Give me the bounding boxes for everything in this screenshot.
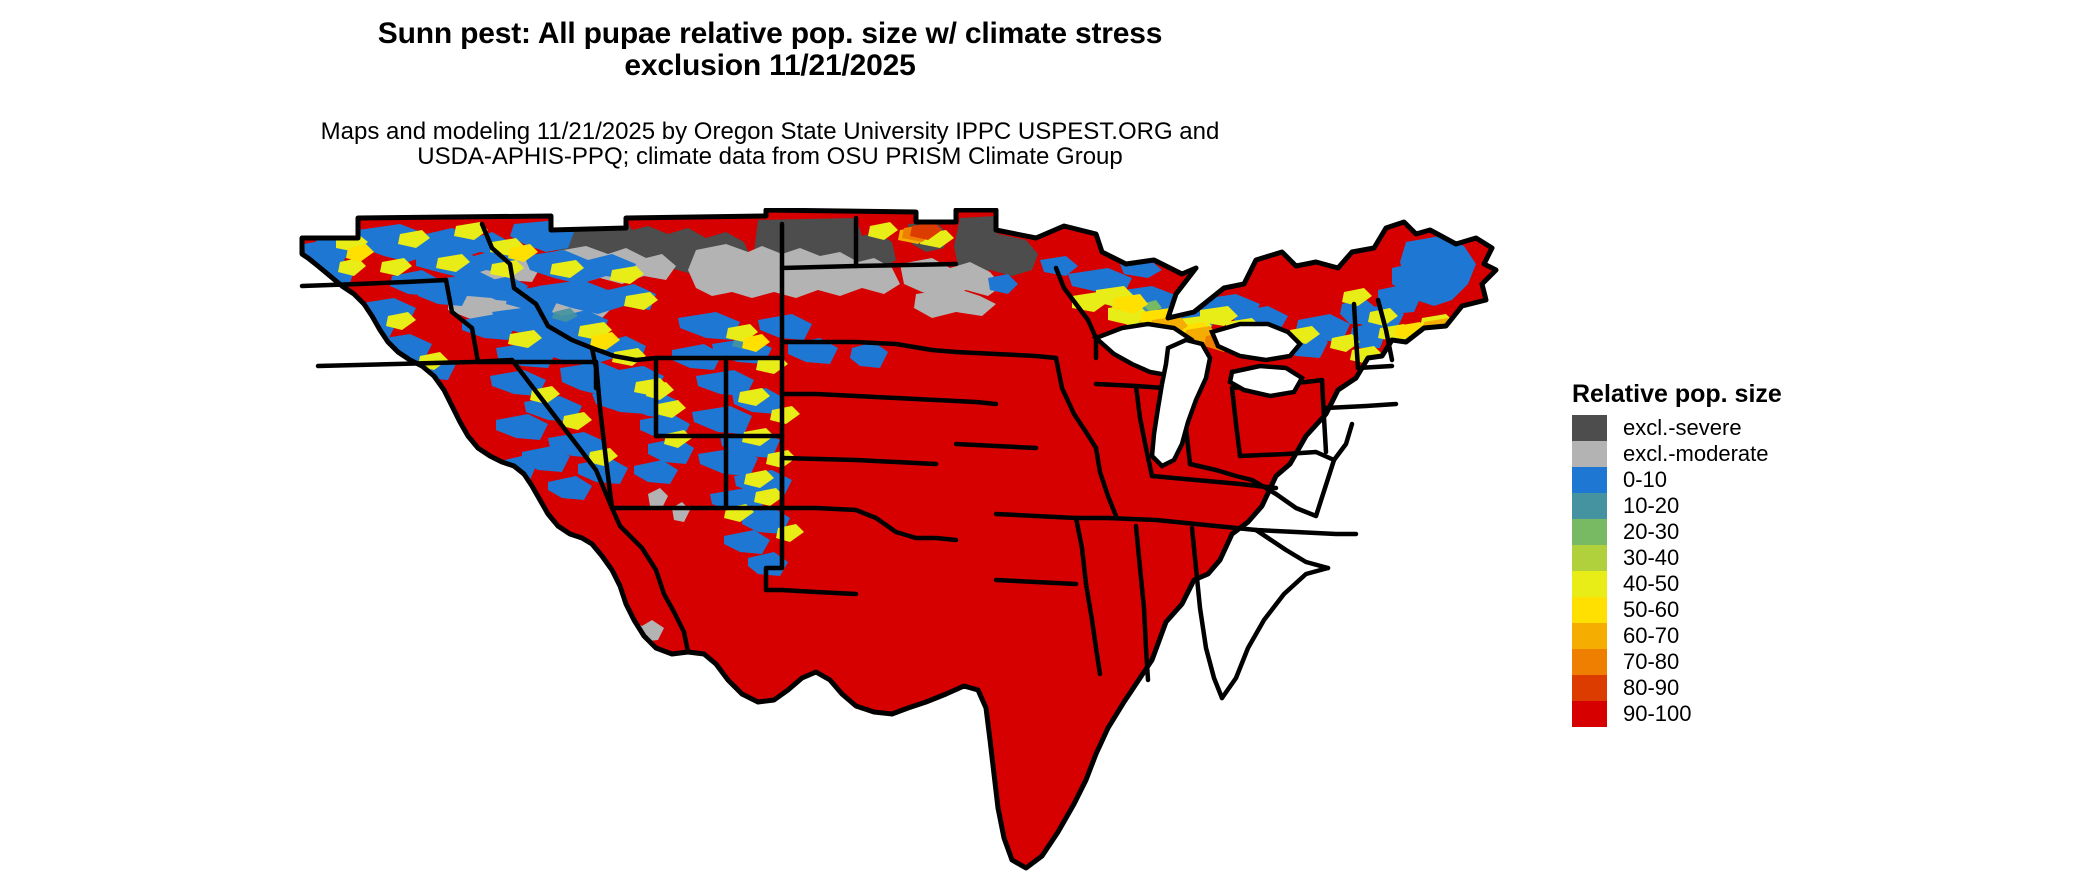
legend-label: 30-40 [1623, 547, 1679, 569]
legend-label: 50-60 [1623, 599, 1679, 621]
legend-item[interactable]: excl.-moderate [1572, 441, 2002, 467]
legend-items-list: excl.-severeexcl.-moderate0-1010-2020-30… [1572, 415, 2002, 727]
map-svg[interactable] [296, 208, 1556, 880]
legend-label: 40-50 [1623, 573, 1679, 595]
legend-swatch [1572, 571, 1607, 597]
legend-label: excl.-severe [1623, 417, 1742, 439]
map-legend: Relative pop. size excl.-severeexcl.-mod… [1572, 382, 2002, 727]
legend-label: 20-30 [1623, 521, 1679, 543]
legend-swatch [1572, 519, 1607, 545]
figure-title-block: Sunn pest: All pupae relative pop. size … [0, 18, 1540, 81]
legend-swatch [1572, 649, 1607, 675]
legend-swatch [1572, 415, 1607, 441]
legend-item[interactable]: 10-20 [1572, 493, 2002, 519]
legend-item[interactable]: 60-70 [1572, 623, 2002, 649]
figure-subtitle-block: Maps and modeling 11/21/2025 by Oregon S… [0, 119, 1540, 169]
legend-label: 60-70 [1623, 625, 1679, 647]
legend-swatch [1572, 493, 1607, 519]
legend-item[interactable]: excl.-severe [1572, 415, 2002, 441]
legend-item[interactable]: 0-10 [1572, 467, 2002, 493]
subtitle-line-2: USDA-APHIS-PPQ; climate data from OSU PR… [0, 144, 1540, 169]
legend-swatch [1572, 441, 1607, 467]
legend-swatch [1572, 545, 1607, 571]
title-line-2: exclusion 11/21/2025 [0, 50, 1540, 82]
page-subtitle: Maps and modeling 11/21/2025 by Oregon S… [0, 119, 1540, 169]
legend-item[interactable]: 70-80 [1572, 649, 2002, 675]
legend-swatch [1572, 675, 1607, 701]
legend-item[interactable]: 80-90 [1572, 675, 2002, 701]
map-figure-page: Sunn pest: All pupae relative pop. size … [0, 0, 2100, 892]
legend-swatch [1572, 623, 1607, 649]
legend-item[interactable]: 30-40 [1572, 545, 2002, 571]
legend-item[interactable]: 20-30 [1572, 519, 2002, 545]
legend-label: 10-20 [1623, 495, 1679, 517]
subtitle-line-1: Maps and modeling 11/21/2025 by Oregon S… [321, 118, 1220, 145]
legend-item[interactable]: 90-100 [1572, 701, 2002, 727]
page-title: Sunn pest: All pupae relative pop. size … [0, 18, 1540, 81]
legend-label: 0-10 [1623, 469, 1667, 491]
legend-label: 70-80 [1623, 651, 1679, 673]
legend-title: Relative pop. size [1572, 382, 2002, 407]
us-choropleth-map[interactable] [296, 208, 1556, 880]
legend-item[interactable]: 50-60 [1572, 597, 2002, 623]
legend-swatch [1572, 701, 1607, 727]
legend-swatch [1572, 467, 1607, 493]
title-line-1: Sunn pest: All pupae relative pop. size … [378, 17, 1162, 50]
legend-label: 90-100 [1623, 703, 1692, 725]
legend-item[interactable]: 40-50 [1572, 571, 2002, 597]
legend-label: excl.-moderate [1623, 443, 1769, 465]
legend-swatch [1572, 597, 1607, 623]
legend-label: 80-90 [1623, 677, 1679, 699]
